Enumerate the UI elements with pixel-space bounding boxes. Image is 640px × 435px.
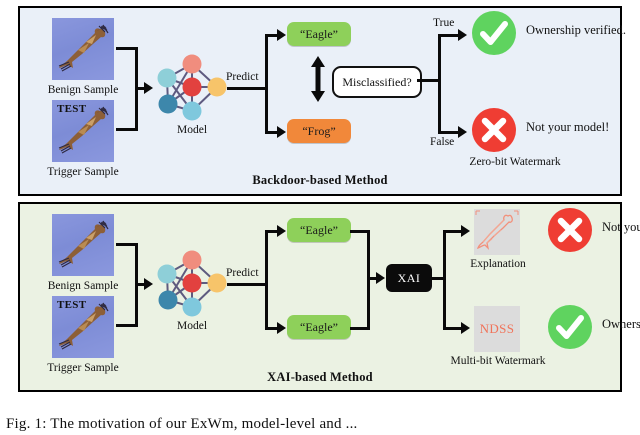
prediction-eagle-1: “Eagle”	[287, 218, 351, 242]
figure-caption: Fig. 1: The motivation of our ExWm, mode…	[6, 414, 640, 435]
benign-sample-image-bottom	[52, 214, 114, 276]
prediction-eagle-top: “Eagle”	[287, 22, 351, 46]
arrow-true	[458, 29, 467, 41]
predict-label-top: Predict	[226, 71, 259, 83]
connector-split-v	[265, 230, 268, 330]
decision-misclassified: Misclassified?	[332, 66, 422, 98]
result-text-verified-top: Ownership verified.	[526, 23, 626, 38]
check-icon	[472, 11, 516, 55]
status-badge-verified-top	[472, 11, 516, 55]
arrow-to-eagle-1	[277, 225, 286, 237]
connector-false-h	[438, 131, 460, 134]
saliency-outline-icon	[474, 209, 520, 255]
trigger-sample-image-bottom: TEST	[52, 296, 114, 358]
double-arrow-icon	[310, 56, 326, 102]
panel-xai-based-method: Benign Sample TEST Trigger Sample	[18, 202, 622, 392]
model-label-bottom: Model	[152, 320, 232, 332]
edge-label-false: False	[430, 136, 454, 148]
model-label-top: Model	[152, 124, 232, 136]
arrow-to-frog-top	[277, 126, 286, 138]
trigger-overlay-text: TEST	[57, 103, 86, 115]
arrow-to-eagle-top	[277, 29, 286, 41]
prediction-eagle-2: “Eagle”	[287, 315, 351, 339]
panel-title-backdoor: Backdoor-based Method	[20, 173, 620, 188]
watermark-tile: NDSS	[474, 306, 520, 352]
status-badge-verified-bottom	[548, 305, 592, 349]
arrow-into-xai	[376, 272, 385, 284]
panel-title-xai: XAI-based Method	[20, 370, 620, 385]
connector-out-v	[443, 230, 446, 330]
prediction-frog-top: “Frog”	[287, 119, 351, 143]
eagle-icon	[56, 220, 110, 270]
check-icon	[548, 305, 592, 349]
connector-watermark-h	[443, 327, 463, 330]
explanation-tile	[474, 209, 520, 255]
arrow-to-watermark	[461, 322, 470, 334]
result-text-rejected-top: Not your model!	[526, 120, 609, 135]
explanation-label: Explanation	[458, 258, 538, 270]
neural-network-icon	[152, 248, 232, 320]
benign-sample-label-top: Benign Sample	[28, 84, 138, 96]
result-text-verified-bottom: Ownership verified.	[602, 317, 640, 332]
trigger-sample-image-top: TEST	[52, 100, 114, 162]
eagle-icon	[56, 24, 110, 74]
connector-branch-v	[438, 34, 441, 134]
watermark-text: NDSS	[474, 306, 520, 352]
connector-trigger-h	[116, 324, 138, 327]
panel-backdoor-based-method: Benign Sample TEST Trigger Sample	[18, 6, 622, 196]
benign-sample-image-top	[52, 18, 114, 80]
connector-true-h	[438, 34, 460, 37]
connector-predict	[227, 283, 267, 286]
figure-root: Benign Sample TEST Trigger Sample	[0, 0, 640, 435]
arrow-to-eagle-2	[277, 322, 286, 334]
benign-sample-label-bottom: Benign Sample	[28, 280, 138, 292]
neural-network-icon	[152, 52, 232, 124]
connector-explanation-h	[443, 230, 463, 233]
cross-icon	[472, 108, 516, 152]
predict-label-bottom: Predict	[226, 267, 259, 279]
arrow-false	[458, 126, 467, 138]
trigger-overlay-text: TEST	[57, 299, 86, 311]
result-text-rejected-bottom: Not your model!	[602, 220, 640, 235]
connector-trigger-h	[116, 128, 138, 131]
arrow-to-explanation	[461, 225, 470, 237]
connector-split-v	[265, 34, 268, 134]
status-badge-rejected-top	[472, 108, 516, 152]
connector-merge-vertical	[367, 230, 370, 330]
edge-label-true: True	[433, 17, 454, 29]
status-badge-rejected-bottom	[548, 208, 592, 252]
connector-predict	[227, 87, 267, 90]
xai-module: XAI	[386, 264, 432, 292]
cross-icon	[548, 208, 592, 252]
zero-bit-watermark-label: Zero-bit Watermark	[435, 156, 595, 168]
multi-bit-watermark-label: Multi-bit Watermark	[438, 355, 558, 367]
